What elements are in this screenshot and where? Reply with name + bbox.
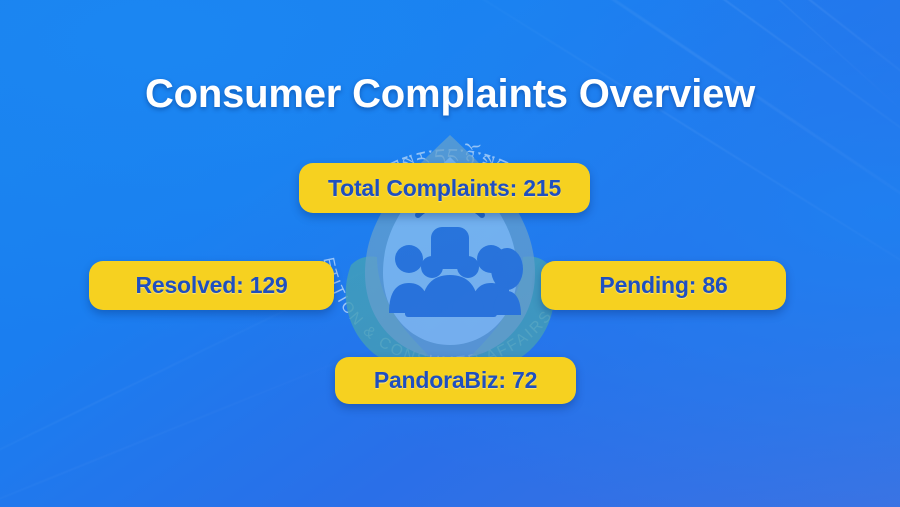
stat-badge-total-complaints[interactable]: Total Complaints: 215 [299,163,590,213]
stat-badge-resolved[interactable]: Resolved: 129 [89,261,334,310]
page-title: Consumer Complaints Overview [0,72,900,117]
slide-canvas: འགྲན་བསྡུར་དང་ཉོ་སྒྲུབ་དངུལ་ COMPETITION… [0,0,900,507]
stat-badge-pandorabiz[interactable]: PandoraBiz: 72 [335,357,576,404]
stat-badge-pending[interactable]: Pending: 86 [541,261,786,310]
